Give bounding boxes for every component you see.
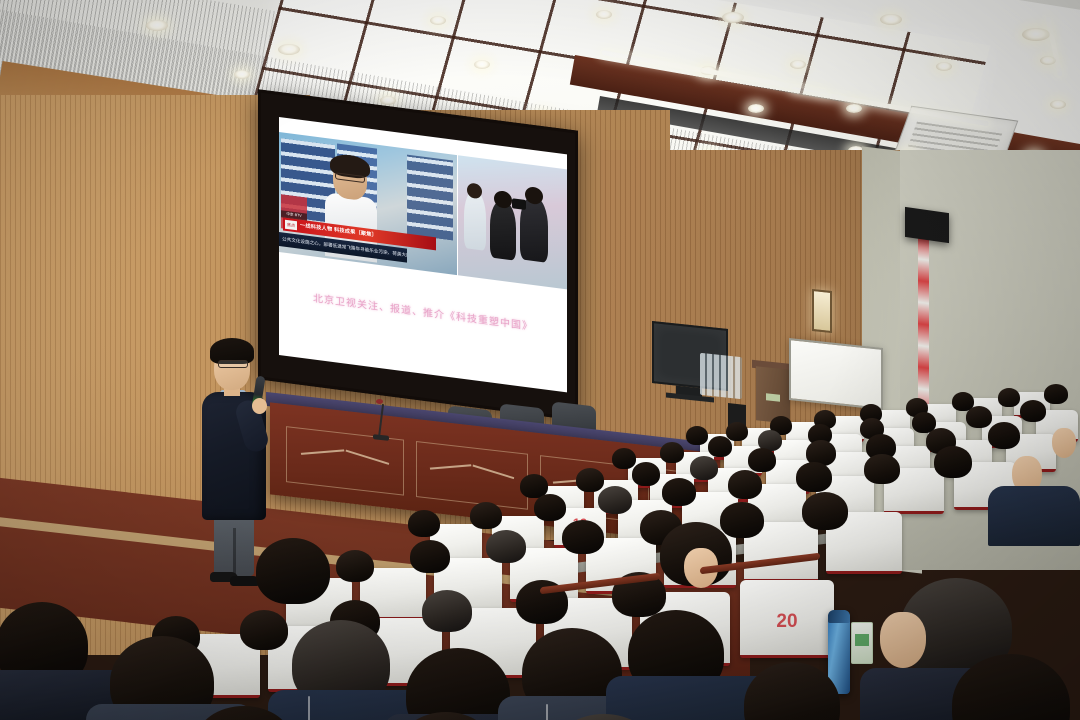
audience-head [796, 462, 832, 492]
thermos-cap [828, 610, 850, 623]
audience-head [632, 462, 660, 486]
audience-head [660, 442, 684, 463]
news-banner-tag: 焦点 [285, 220, 297, 231]
audience-shoulders [988, 486, 1080, 546]
loudspeaker-icon [905, 207, 949, 243]
downlight-icon [278, 44, 300, 55]
audience-head [966, 406, 992, 428]
glasses-icon [218, 360, 248, 368]
downlight-icon [430, 16, 446, 25]
slide-caption-text: 北京卫视关注、报道、推介《科技重塑中国》 [279, 285, 567, 337]
audience-face [1052, 428, 1076, 458]
audience-head-front [256, 538, 330, 604]
downlight-icon [790, 60, 806, 69]
audience-head [864, 454, 900, 484]
downlight-icon [146, 20, 168, 31]
audience-head-front [744, 662, 840, 720]
news-clip-left-panel: 中京·BTV 焦点 一线科技人物 科技成果〔聚焦〕 公共文化设施之心，部署低温常… [279, 132, 457, 275]
audience-head [1044, 384, 1068, 404]
wall-sconce-icon [812, 289, 832, 333]
downlight-icon [748, 104, 764, 113]
downlight-icon [1022, 28, 1050, 41]
audience-head [720, 502, 764, 538]
projected-slide: 中京·BTV 焦点 一线科技人物 科技成果〔聚焦〕 公共文化设施之心，部署低温常… [279, 117, 567, 392]
camera-icon [512, 198, 526, 210]
audience-head [240, 610, 288, 650]
audience-head [598, 486, 632, 514]
seat-number: 20 [776, 611, 797, 633]
audience-head [534, 494, 566, 521]
audience-head [934, 446, 972, 478]
audience-head [612, 448, 636, 469]
seat[interactable]: 20 [740, 580, 834, 658]
audience-head [562, 520, 604, 554]
downlight-icon [936, 62, 952, 71]
uniform-stripe [308, 696, 310, 720]
uniform-stripe [546, 704, 548, 720]
slide-news-clip: 中京·BTV 焦点 一线科技人物 科技成果〔聚焦〕 公共文化设施之心，部署低温常… [279, 132, 567, 289]
milk-carton [851, 622, 873, 664]
downlight-icon [1050, 100, 1066, 109]
expo-shelf [407, 155, 453, 241]
audience-head [686, 426, 708, 445]
audience-head [748, 448, 776, 472]
audience-head [998, 388, 1020, 407]
audience-head [802, 492, 848, 530]
audience-head [336, 550, 374, 582]
downlight-icon [846, 104, 862, 113]
audience-area: 19 [0, 382, 1080, 720]
audience-head [708, 436, 732, 457]
audience-head [662, 478, 696, 506]
audience-head [470, 502, 502, 529]
downlight-icon [234, 70, 250, 79]
audience-face [880, 612, 926, 668]
audience-head [576, 468, 604, 492]
expo-person [490, 199, 516, 260]
audience-head [408, 510, 440, 537]
audience-head [988, 422, 1020, 449]
audience-head [728, 470, 762, 499]
downlight-icon [722, 12, 744, 23]
projection-screen[interactable]: 中京·BTV 焦点 一线科技人物 科技成果〔聚焦〕 公共文化设施之心，部署低温常… [258, 89, 578, 421]
downlight-icon [596, 10, 612, 19]
audience-head [422, 590, 472, 632]
audience-head [410, 540, 450, 573]
downlight-icon [474, 60, 490, 69]
audience-head [726, 422, 748, 441]
downlight-icon [380, 96, 396, 105]
audience-head [486, 530, 526, 563]
news-clip-right-panel [458, 155, 567, 289]
expo-person [464, 190, 486, 251]
audience-head [1020, 400, 1046, 422]
downlight-icon [880, 14, 902, 25]
audience-head [690, 456, 718, 480]
auditorium-photo: 中京·BTV 焦点 一线科技人物 科技成果〔聚焦〕 公共文化设施之心，部署低温常… [0, 0, 1080, 720]
